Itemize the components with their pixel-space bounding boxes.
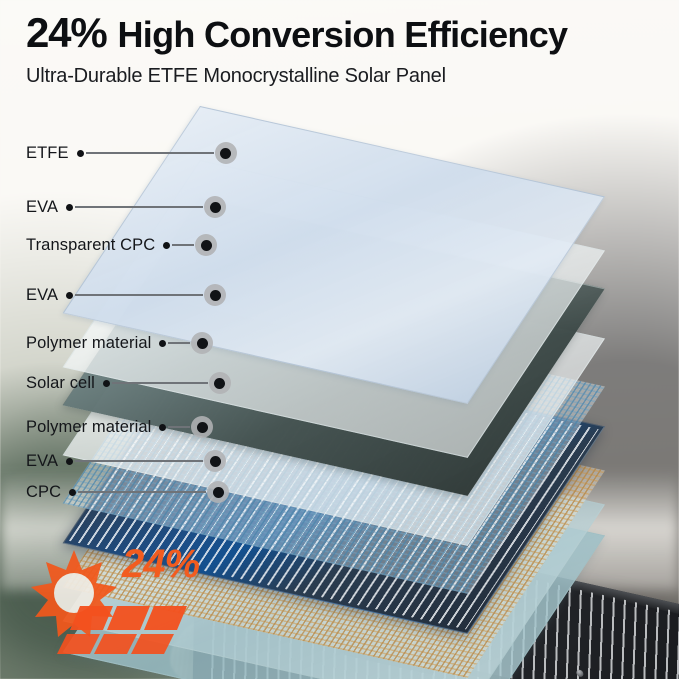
- callout-origin-dot: [66, 292, 73, 299]
- header: 24% High Conversion Efficiency Ultra-Dur…: [26, 12, 567, 88]
- callout-leader-line: [75, 294, 203, 296]
- layer-callout[interactable]: Transparent CPC: [26, 233, 229, 257]
- callout-leader-line: [168, 342, 190, 344]
- layer-callout[interactable]: EVA: [26, 449, 229, 473]
- callout-target-dot[interactable]: [207, 481, 229, 503]
- layer-callout[interactable]: EVA: [26, 195, 229, 219]
- layer-label: ETFE: [26, 144, 69, 163]
- callout-leader-line: [75, 460, 203, 462]
- callout-target-dot[interactable]: [209, 372, 231, 394]
- callout-origin-dot: [163, 242, 170, 249]
- callout-leader-line: [168, 426, 190, 428]
- layer-label: EVA: [26, 198, 58, 217]
- layer-label: EVA: [26, 286, 58, 305]
- layer-callout[interactable]: ETFE: [26, 141, 229, 165]
- badge-percent: 24%: [122, 542, 199, 587]
- layer-callout[interactable]: EVA: [26, 283, 229, 307]
- layer-callout[interactable]: Polymer material: [26, 415, 229, 439]
- callout-leader-line: [78, 491, 206, 493]
- layer-label: Polymer material: [26, 334, 151, 353]
- layer-callout[interactable]: Polymer material: [26, 331, 229, 355]
- callout-origin-dot: [77, 150, 84, 157]
- callout-origin-dot: [69, 489, 76, 496]
- callout-target-dot[interactable]: [215, 142, 237, 164]
- callout-target-dot[interactable]: [195, 234, 217, 256]
- callout-origin-dot: [159, 424, 166, 431]
- callout-leader-line: [112, 382, 208, 384]
- header-percent: 24%: [26, 12, 106, 54]
- callout-target-dot[interactable]: [191, 416, 213, 438]
- callout-target-dot[interactable]: [204, 196, 226, 218]
- layer-label: Polymer material: [26, 418, 151, 437]
- callout-origin-dot: [159, 340, 166, 347]
- callout-leader-line: [75, 206, 203, 208]
- layer-callout[interactable]: CPC: [26, 480, 229, 504]
- callout-target-dot[interactable]: [204, 284, 226, 306]
- header-subtitle: Ultra-Durable ETFE Monocrystalline Solar…: [26, 65, 567, 88]
- product-infographic: ETFEEVATransparent CPCEVAPolymer materia…: [0, 0, 679, 679]
- callout-leader-line: [86, 152, 214, 154]
- page-title: High Conversion Efficiency: [117, 17, 567, 53]
- efficiency-badge: 24%: [18, 540, 218, 655]
- layer-label: EVA: [26, 452, 58, 471]
- callout-origin-dot: [66, 458, 73, 465]
- callout-target-dot[interactable]: [204, 450, 226, 472]
- callout-origin-dot: [66, 204, 73, 211]
- callout-leader-line: [172, 244, 194, 246]
- callout-origin-dot: [103, 380, 110, 387]
- callout-target-dot[interactable]: [191, 332, 213, 354]
- layer-callout[interactable]: Solar cell: [26, 371, 229, 395]
- layer-label: CPC: [26, 483, 61, 502]
- layer-label: Transparent CPC: [26, 236, 155, 255]
- layer-label: Solar cell: [26, 374, 95, 393]
